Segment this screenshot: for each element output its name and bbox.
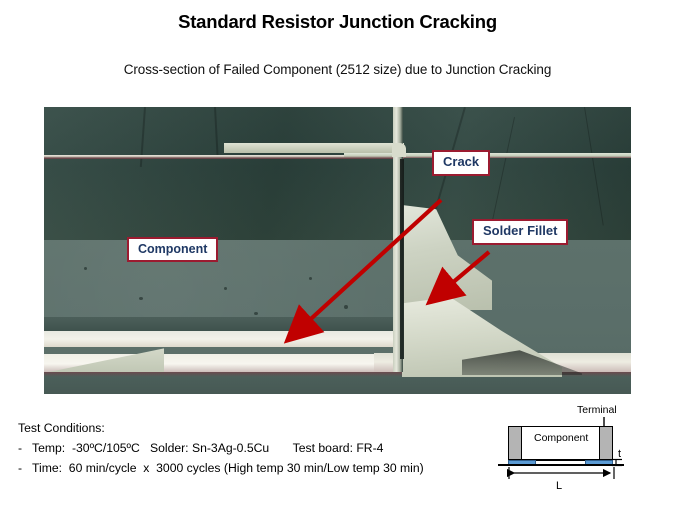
callout-solder-fillet[interactable]: Solder Fillet — [472, 219, 568, 245]
micrograph-speck — [254, 312, 258, 315]
micrograph-crack-feature — [400, 159, 404, 359]
micrograph-speck — [224, 287, 227, 290]
callout-crack-label: Crack — [443, 154, 479, 169]
callout-component[interactable]: Component — [127, 237, 218, 262]
test-conditions-line-time: - Time: 60 min/cycle x 3000 cycles (High… — [18, 459, 424, 479]
slide-root: Standard Resistor Junction Cracking Cros… — [0, 0, 675, 506]
schematic-dimension-layer — [498, 404, 668, 500]
component-schematic: Terminal Component t L — [498, 404, 668, 500]
micrograph-bright-band — [44, 331, 404, 347]
micrograph-mid-band — [44, 347, 404, 354]
micrograph-speck — [309, 277, 312, 280]
micrograph-speck — [84, 267, 87, 270]
page-title: Standard Resistor Junction Cracking — [0, 11, 675, 33]
micrograph-speck — [344, 305, 348, 309]
micrograph-speck — [139, 297, 143, 300]
micrograph-terminal-corner — [392, 143, 406, 157]
micrograph-termination-top — [224, 143, 404, 153]
callout-solder-fillet-label: Solder Fillet — [483, 223, 557, 238]
micrograph-dark-band — [44, 317, 404, 331]
callout-crack[interactable]: Crack — [432, 150, 490, 176]
test-conditions-heading: Test Conditions: — [18, 419, 424, 439]
callout-component-label: Component — [138, 242, 207, 256]
test-conditions-block: Test Conditions: - Temp: -30ºC/105ºC Sol… — [18, 419, 424, 478]
page-subtitle: Cross-section of Failed Component (2512 … — [0, 62, 675, 77]
test-conditions-line-temp: - Temp: -30ºC/105ºC Solder: Sn-3Ag-0.5Cu… — [18, 439, 424, 459]
